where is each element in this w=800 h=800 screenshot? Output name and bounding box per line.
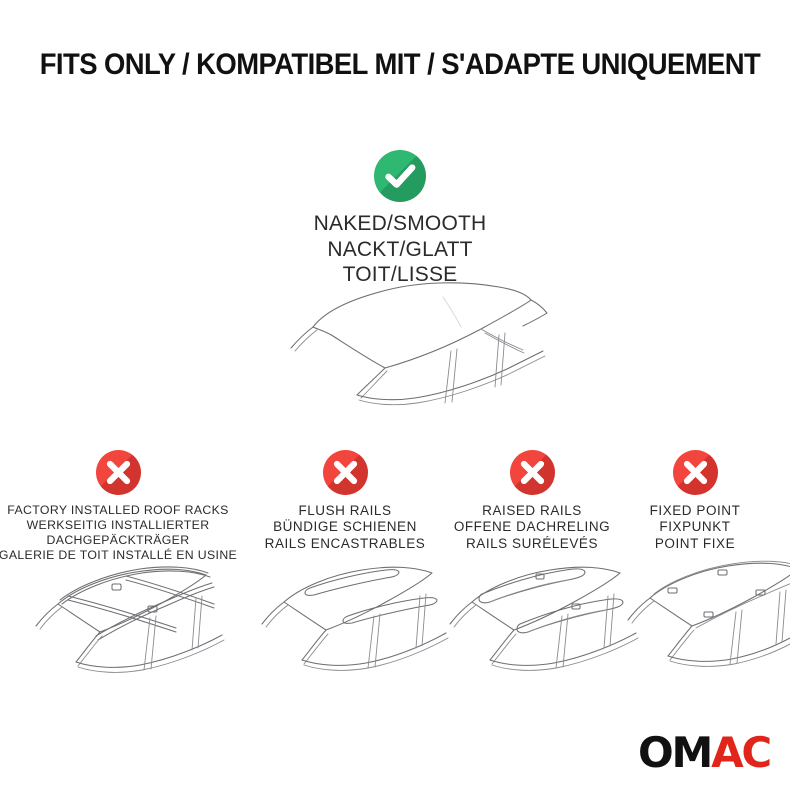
item-label-de: BÜNDIGE SCHIENEN [265, 519, 426, 535]
omac-logo: OMAC [638, 732, 770, 774]
x-circle-icon [323, 450, 368, 495]
check-circle-icon [374, 150, 426, 202]
item-label-de: OFFENE DACHRELING [454, 519, 610, 535]
compatible-section: NAKED/SMOOTH NACKT/GLATT TOIT/LISSE [0, 150, 800, 288]
fixed-point-roof-illustration [620, 546, 770, 696]
naked-smooth-roof-illustration [255, 275, 575, 415]
page-title: FITS ONLY / KOMPATIBEL MIT / S'ADAPTE UN… [28, 48, 772, 82]
x-circle-icon [510, 450, 555, 495]
item-label-en: FLUSH RAILS [265, 503, 426, 519]
item-caption: RAISED RAILS OFFENE DACHRELING RAILS SUR… [454, 503, 610, 552]
incompatible-item-factory-roof-racks: FACTORY INSTALLED ROOF RACKS WERKSEITIG … [0, 450, 236, 563]
incompatible-section: FACTORY INSTALLED ROOF RACKS WERKSEITIG … [0, 450, 800, 710]
x-circle-icon [96, 450, 141, 495]
omac-logo-dark: OM [638, 728, 711, 777]
compatible-label-en: NAKED/SMOOTH [314, 211, 487, 237]
omac-logo-red: AC [711, 728, 770, 777]
incompatible-item-raised-rails: RAISED RAILS OFFENE DACHRELING RAILS SUR… [420, 450, 644, 552]
item-label-de: FIXPUNKT [650, 519, 741, 535]
fitment-compatibility-graphic: FITS ONLY / KOMPATIBEL MIT / S'ADAPTE UN… [0, 0, 800, 800]
compatible-label-de: NACKT/GLATT [314, 237, 487, 263]
item-caption: FIXED POINT FIXPUNKT POINT FIXE [650, 503, 741, 552]
item-label-en: RAISED RAILS [454, 503, 610, 519]
item-label-en: FIXED POINT [650, 503, 741, 519]
item-caption: FLUSH RAILS BÜNDIGE SCHIENEN RAILS ENCAS… [265, 503, 426, 552]
x-circle-icon [673, 450, 718, 495]
item-label-de-1: WERKSEITIG INSTALLIERTER [0, 518, 237, 533]
factory-roof-rack-illustration [0, 546, 236, 696]
item-label-en: FACTORY INSTALLED ROOF RACKS [0, 503, 237, 518]
incompatible-item-fixed-point: FIXED POINT FIXPUNKT POINT FIXE [620, 450, 770, 552]
